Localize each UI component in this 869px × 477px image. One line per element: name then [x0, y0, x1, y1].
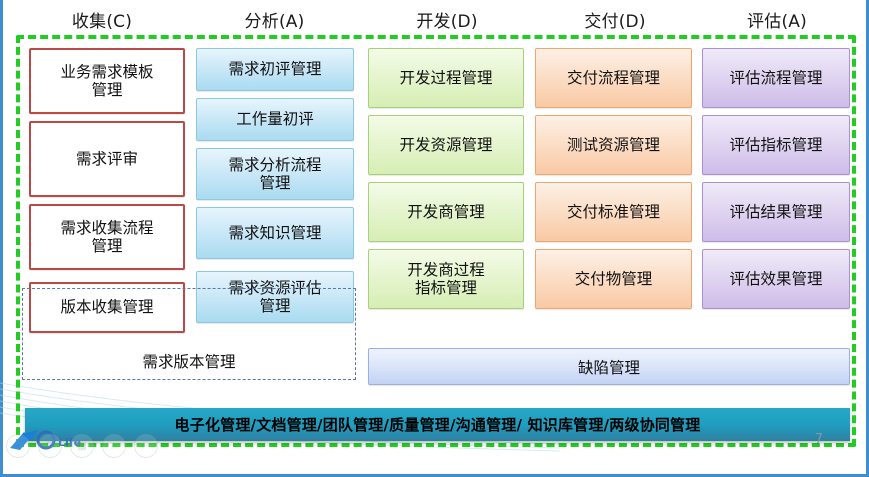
column-header-delivery: 交付(D): [536, 7, 694, 32]
prev-slide-icon[interactable]: ‹: [6, 434, 30, 458]
card-development-3[interactable]: 开发商管理: [368, 182, 524, 242]
column-analysis: 需求初评管理 工作量初评 需求分析流程 管理 需求知识管理 需求资源评估 管理: [196, 48, 354, 323]
grid-icon[interactable]: ▦: [70, 434, 94, 458]
card-collect-2[interactable]: 需求评审: [29, 121, 185, 197]
version-management-group-label: 需求版本管理: [22, 348, 356, 374]
card-evaluation-1[interactable]: 评估流程管理: [702, 48, 850, 108]
pen-icon[interactable]: ✎: [38, 434, 62, 458]
column-header-analysis: 分析(A): [192, 7, 357, 32]
slide-left-edge: [0, 0, 3, 477]
card-evaluation-4[interactable]: 评估效果管理: [702, 249, 850, 309]
card-delivery-2[interactable]: 测试资源管理: [535, 115, 692, 175]
column-evaluation: 评估流程管理 评估指标管理 评估结果管理 评估效果管理: [702, 48, 850, 309]
card-development-4[interactable]: 开发商过程 指标管理: [368, 249, 524, 309]
card-development-1[interactable]: 开发过程管理: [368, 48, 524, 108]
card-delivery-3[interactable]: 交付标准管理: [535, 182, 692, 242]
defect-management-bar[interactable]: 缺陷管理: [368, 348, 850, 385]
column-development: 开发过程管理 开发资源管理 开发商管理 开发商过程 指标管理: [368, 48, 524, 309]
card-evaluation-2[interactable]: 评估指标管理: [702, 115, 850, 175]
slide-canvas: 收集(C) 分析(A) 开发(D) 交付(D) 评估(A) 业务需求模板 管理 …: [0, 0, 869, 477]
column-header-evaluation: 评估(A): [702, 7, 852, 32]
card-collect-3[interactable]: 需求收集流程 管理: [29, 204, 185, 270]
column-header-collect: 收集(C): [22, 7, 182, 32]
column-delivery: 交付流程管理 测试资源管理 交付标准管理 交付物管理: [535, 48, 692, 309]
card-analysis-3[interactable]: 需求分析流程 管理: [196, 148, 354, 200]
zoom-icon[interactable]: ⌕: [102, 434, 126, 458]
card-collect-1[interactable]: 业务需求模板 管理: [29, 48, 185, 114]
card-delivery-4[interactable]: 交付物管理: [535, 249, 692, 309]
more-options-icon[interactable]: ⋯: [134, 434, 158, 458]
page-number: 7: [815, 432, 823, 447]
card-evaluation-3[interactable]: 评估结果管理: [702, 182, 850, 242]
card-delivery-1[interactable]: 交付流程管理: [535, 48, 692, 108]
card-analysis-2[interactable]: 工作量初评: [196, 98, 354, 141]
slideshow-controls: ‹ ✎ ▦ ⌕ ⋯: [6, 434, 158, 458]
card-development-2[interactable]: 开发资源管理: [368, 115, 524, 175]
card-analysis-1[interactable]: 需求初评管理: [196, 48, 354, 91]
card-analysis-4[interactable]: 需求知识管理: [196, 207, 354, 259]
column-header-development: 开发(D): [368, 7, 526, 32]
